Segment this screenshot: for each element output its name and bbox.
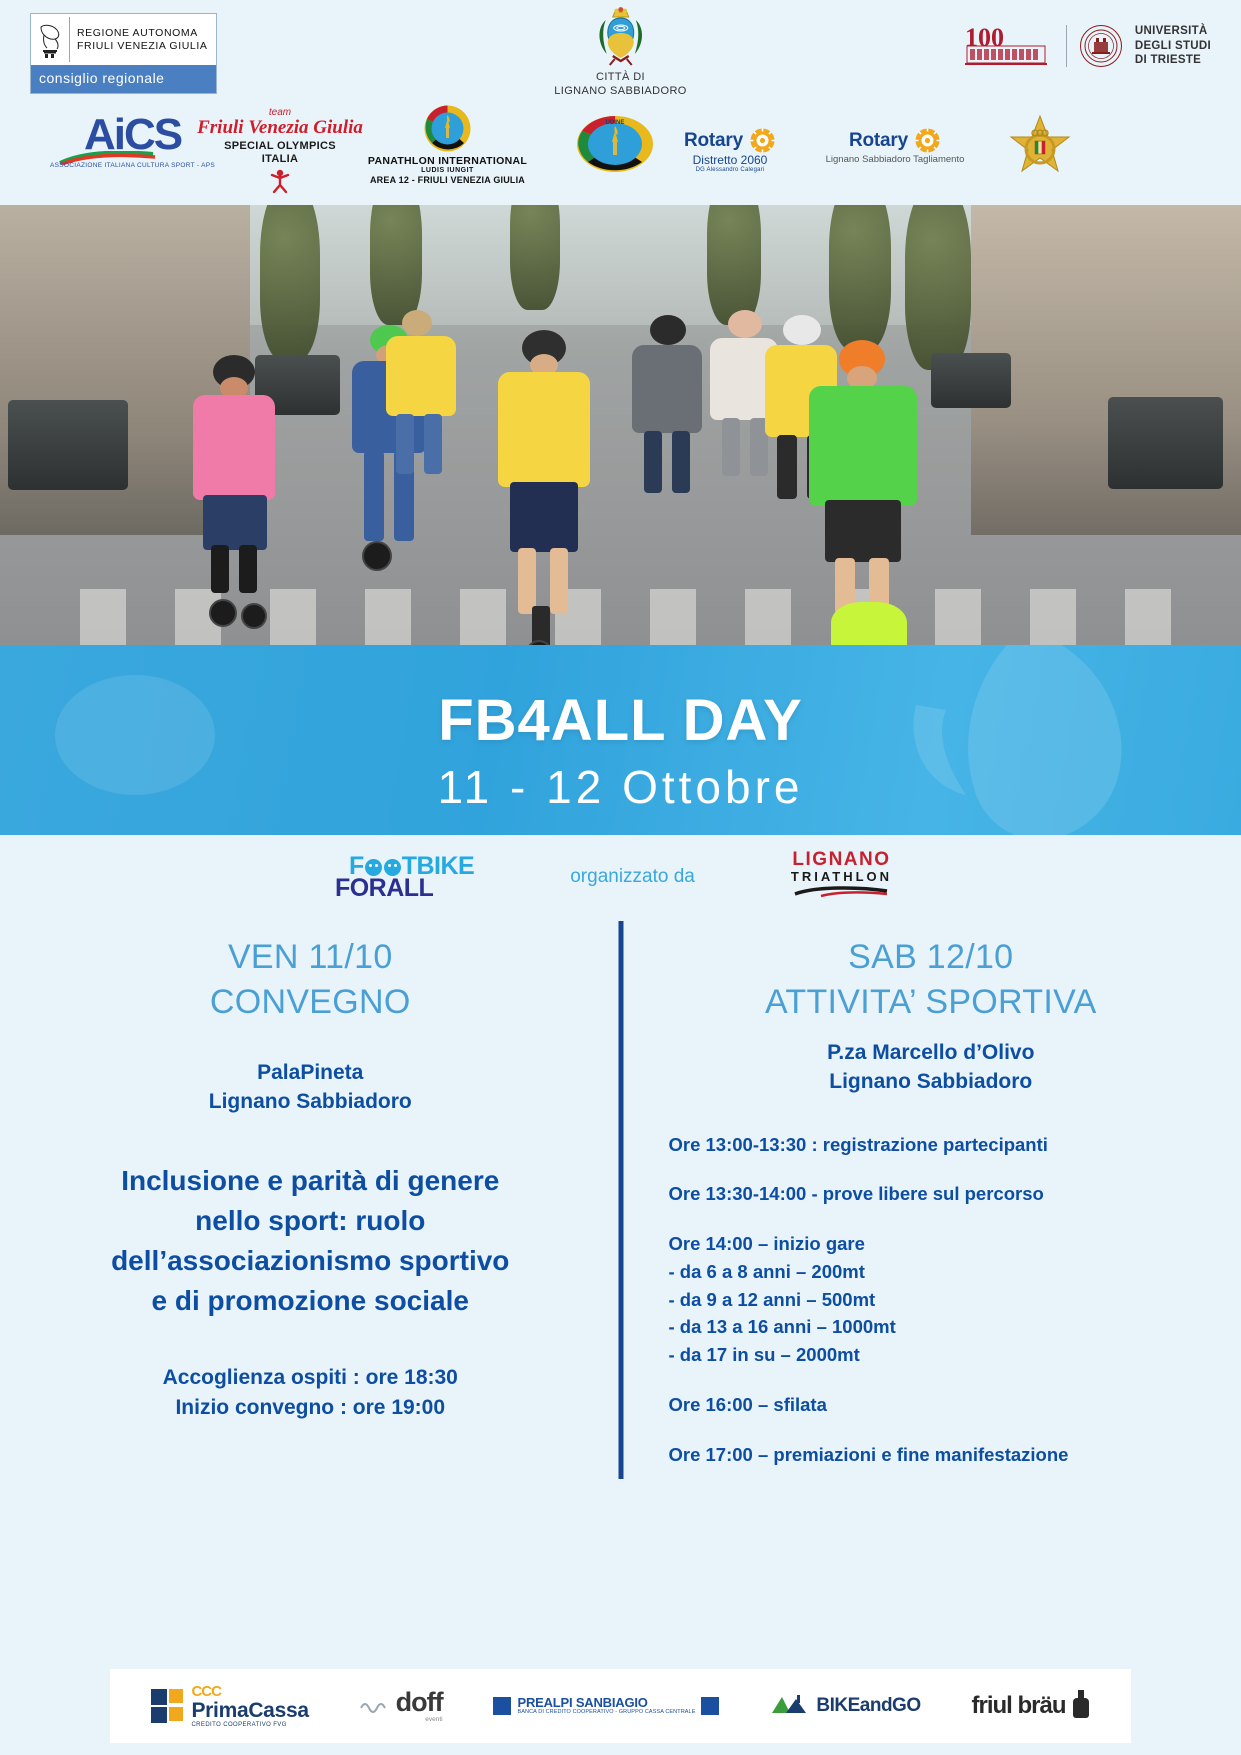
schedule-item-sub: - da 9 a 12 anni – 500mt	[669, 1286, 1216, 1314]
rotary-wordmark: Rotary	[684, 130, 743, 152]
sponsor-strip: CCC PrimaCassa CREDITO COOPERATIVO FVG d…	[110, 1669, 1131, 1743]
consiglio-regionale-label: consiglio regionale	[31, 65, 216, 93]
gold-star-medal-icon	[1000, 113, 1080, 188]
schedule-block: Ore 16:00 – sfilata	[669, 1391, 1216, 1419]
doff-name: doff	[396, 1688, 443, 1716]
schedule-item-main: Ore 13:30-14:00 - prove libere sul perco…	[669, 1180, 1216, 1208]
univ-line1: UNIVERSITÀ	[1135, 24, 1211, 39]
friday-venue: PalaPineta Lignano Sabbiadoro	[26, 1059, 595, 1117]
primacassa-badge: CCC	[191, 1684, 308, 1700]
organized-by-label: organizzato da	[570, 866, 695, 888]
panathlon-line1: PANATHLON INTERNATIONAL	[360, 155, 535, 167]
friday-time-2: Inizio convegno : ore 19:00	[26, 1393, 595, 1423]
conference-times: Accoglienza ospiti : ore 18:30 Inizio co…	[26, 1363, 595, 1424]
saturday-venue-line1: P.za Marcello d’Olivo	[647, 1039, 1216, 1068]
column-saturday: SAB 12/10 ATTIVITA’ SPORTIVA P.za Marcel…	[621, 935, 1241, 1495]
so-line2: ITALIA	[195, 153, 365, 166]
footbike-for: FOR	[335, 874, 386, 902]
conference-title-line3: dell’associazionismo sportivo	[26, 1241, 595, 1281]
schedule-item-main: Ore 13:00-13:30 : registrazione partecip…	[669, 1131, 1216, 1159]
schedule-block: Ore 13:30-14:00 - prove libere sul perco…	[669, 1180, 1216, 1208]
schedule-block: Ore 17:00 – premiazioni e fine manifesta…	[669, 1441, 1216, 1469]
saturday-type: ATTIVITA’ SPORTIVA	[647, 980, 1216, 1025]
bikeandgo-name: BIKEandGO	[816, 1695, 920, 1717]
footbike-eye-o-icon	[365, 859, 382, 876]
logo-universita-trieste: 100	[961, 22, 1211, 70]
friday-time-1: Accoglienza ospiti : ore 18:30	[26, 1363, 595, 1393]
sponsor-bikeandgo: BIKEandGO	[770, 1691, 920, 1722]
panathlon-line3: AREA 12 - FRIULI VENEZIA GIULIA	[360, 175, 535, 185]
rotary-district: Distretto 2060	[655, 153, 805, 167]
prealpi-mark-2-icon	[701, 1697, 719, 1715]
beer-bottle-icon	[1072, 1689, 1090, 1724]
saturday-venue: P.za Marcello d’Olivo Lignano Sabbiadoro	[647, 1039, 1216, 1097]
schedule-item-sub: - da 17 in su – 2000mt	[669, 1341, 1216, 1369]
schedule-block: Ore 14:00 – inizio gare- da 6 a 8 anni –…	[669, 1230, 1216, 1369]
panathlon-udine-icon: UDINE	[576, 115, 654, 173]
prealpi-mark-icon	[493, 1697, 511, 1715]
logo-lignano-triathlon: LIGNANO TRIATHLON	[791, 850, 892, 904]
title-banner: FB4ALL DAY 11 - 12 Ottobre	[0, 645, 1241, 835]
conference-title-line4: e di promozione sociale	[26, 1281, 595, 1321]
saturday-venue-line2: Lignano Sabbiadoro	[647, 1068, 1216, 1097]
logo-special-olympics: team Friuli Venezia Giulia SPECIAL OLYMP…	[195, 107, 365, 199]
schedule-block: Ore 13:00-13:30 : registrazione partecip…	[669, 1131, 1216, 1159]
logo-footbike-for-all: FTBIKE FORALL	[349, 854, 474, 901]
saturday-date: SAB 12/10	[848, 938, 1013, 976]
conference-title-line2: nello sport: ruolo	[26, 1201, 595, 1241]
event-photo	[0, 205, 1241, 645]
univ-line3: DI TRIESTE	[1135, 53, 1211, 68]
sponsor-friulbrau: friul bräu	[972, 1689, 1090, 1724]
municipal-crest-icon	[592, 6, 648, 68]
logo-citta-lignano: CITTÀ DI LIGNANO SABBIADORO	[554, 6, 687, 99]
rotary-wheel-icon	[914, 127, 941, 154]
regione-line2: FRIULI VENEZIA GIULIA	[77, 40, 207, 53]
special-olympics-figure-icon	[195, 168, 365, 199]
event-title: FB4ALL DAY	[0, 645, 1241, 754]
eagle-crest-icon	[31, 17, 70, 62]
primacassa-mark-icon	[151, 1689, 185, 1723]
univ-line2: DEGLI STUDI	[1135, 39, 1211, 54]
event-poster: REGIONE AUTONOMA FRIULI VENEZIA GIULIA c…	[0, 0, 1241, 1755]
panathlon-torch-icon	[424, 105, 471, 152]
rotary-dg: DG Alessandro Calegari	[655, 167, 805, 173]
anniversary-100-icon: 100	[961, 22, 1053, 70]
friday-date: VEN 11/10	[228, 938, 393, 976]
saturday-heading: SAB 12/10 ATTIVITA’ SPORTIVA	[647, 935, 1216, 1025]
svg-text:UDINE: UDINE	[606, 120, 625, 126]
prealpi-name: PREALPI SANBIAGIO	[517, 1696, 695, 1710]
logo-rotary-lignano: Rotary Lignano Sabbiadoro Tagliamento	[790, 127, 1000, 165]
column-friday: VEN 11/10 CONVEGNO PalaPineta Lignano Sa…	[0, 935, 621, 1495]
schedule-columns: VEN 11/10 CONVEGNO PalaPineta Lignano Sa…	[0, 913, 1241, 1495]
logo-regione-fvg: REGIONE AUTONOMA FRIULI VENEZIA GIULIA c…	[30, 13, 217, 94]
footbike-all: ALL	[386, 874, 433, 902]
friday-heading: VEN 11/10 CONVEGNO	[26, 935, 595, 1025]
partner-logo-row: AiCS ASSOCIAZIONE ITALIANA CULTURA SPORT…	[0, 105, 1241, 205]
regione-line1: REGIONE AUTONOMA	[77, 27, 207, 40]
so-line1: SPECIAL OLYMPICS	[195, 140, 365, 153]
conference-title: Inclusione e parità di genere nello spor…	[26, 1161, 595, 1321]
schedule-item-main: Ore 17:00 – premiazioni e fine manifesta…	[669, 1441, 1216, 1469]
event-dates: 11 - 12 Ottobre	[0, 760, 1241, 814]
friday-venue-line1: PalaPineta	[26, 1059, 595, 1088]
patron-logo-band: REGIONE AUTONOMA FRIULI VENEZIA GIULIA c…	[0, 0, 1241, 205]
sponsor-doff: doff eventi	[360, 1688, 443, 1723]
organizer-row: FTBIKE FORALL organizzato da LIGNANO TRI…	[0, 835, 1241, 913]
divider	[1066, 25, 1067, 67]
triathlon-swoosh-icon	[791, 885, 892, 904]
panathlon-line2: LUDIS IUNGIT	[360, 167, 535, 174]
citta-line2: LIGNANO SABBIADORO	[554, 85, 687, 99]
logo-fiamme-oro	[1000, 113, 1080, 188]
primacassa-sub: CREDITO COOPERATIVO FVG	[191, 1722, 308, 1728]
friday-venue-line2: Lignano Sabbiadoro	[26, 1088, 595, 1117]
schedule-item-sub: - da 6 a 8 anni – 200mt	[669, 1258, 1216, 1286]
university-seal-icon	[1080, 25, 1122, 67]
citta-line1: CITTÀ DI	[554, 71, 687, 85]
rotary-wordmark: Rotary	[849, 130, 908, 152]
saturday-schedule: Ore 13:00-13:30 : registrazione partecip…	[647, 1131, 1216, 1469]
friday-type: CONVEGNO	[26, 980, 595, 1025]
svg-text:100: 100	[965, 23, 1004, 52]
column-divider	[618, 921, 623, 1479]
conference-title-line1: Inclusione e parità di genere	[26, 1161, 595, 1201]
lignano-triathlon-line2: TRIATHLON	[791, 870, 892, 884]
footbike-eye-o-2-icon	[384, 859, 401, 876]
prealpi-sub: BANCA DI CREDITO COOPERATIVO - GRUPPO CA…	[517, 1710, 695, 1716]
doff-sub: eventi	[396, 1717, 443, 1724]
logo-rotary-2060: Rotary Distretto 2060 DG Alessandro	[655, 127, 805, 173]
friulbrau-name: friul bräu	[972, 1692, 1066, 1720]
schedule-item-sub: - da 13 a 16 anni – 1000mt	[669, 1313, 1216, 1341]
sponsor-footer: CCC PrimaCassa CREDITO COOPERATIVO FVG d…	[0, 1663, 1241, 1755]
sponsor-prealpi: PREALPI SANBIAGIO BANCA DI CREDITO COOPE…	[493, 1696, 719, 1715]
logo-panathlon-international: PANATHLON INTERNATIONAL LUDIS IUNGIT ARE…	[360, 105, 535, 185]
rotary-club-caption: Lignano Sabbiadoro Tagliamento	[790, 154, 1000, 165]
sponsor-primacassa: CCC PrimaCassa CREDITO COOPERATIVO FVG	[151, 1684, 308, 1728]
bikeandgo-hill-icon	[770, 1691, 810, 1722]
schedule-item-main: Ore 14:00 – inizio gare	[669, 1230, 1216, 1258]
primacassa-name: PrimaCassa	[191, 1700, 308, 1722]
lignano-triathlon-line1: LIGNANO	[791, 850, 892, 870]
doff-wave-icon	[360, 1694, 390, 1719]
so-region-script: Friuli Venezia Giulia	[195, 118, 365, 137]
schedule-item-main: Ore 16:00 – sfilata	[669, 1391, 1216, 1419]
rotary-wheel-icon	[749, 127, 776, 154]
